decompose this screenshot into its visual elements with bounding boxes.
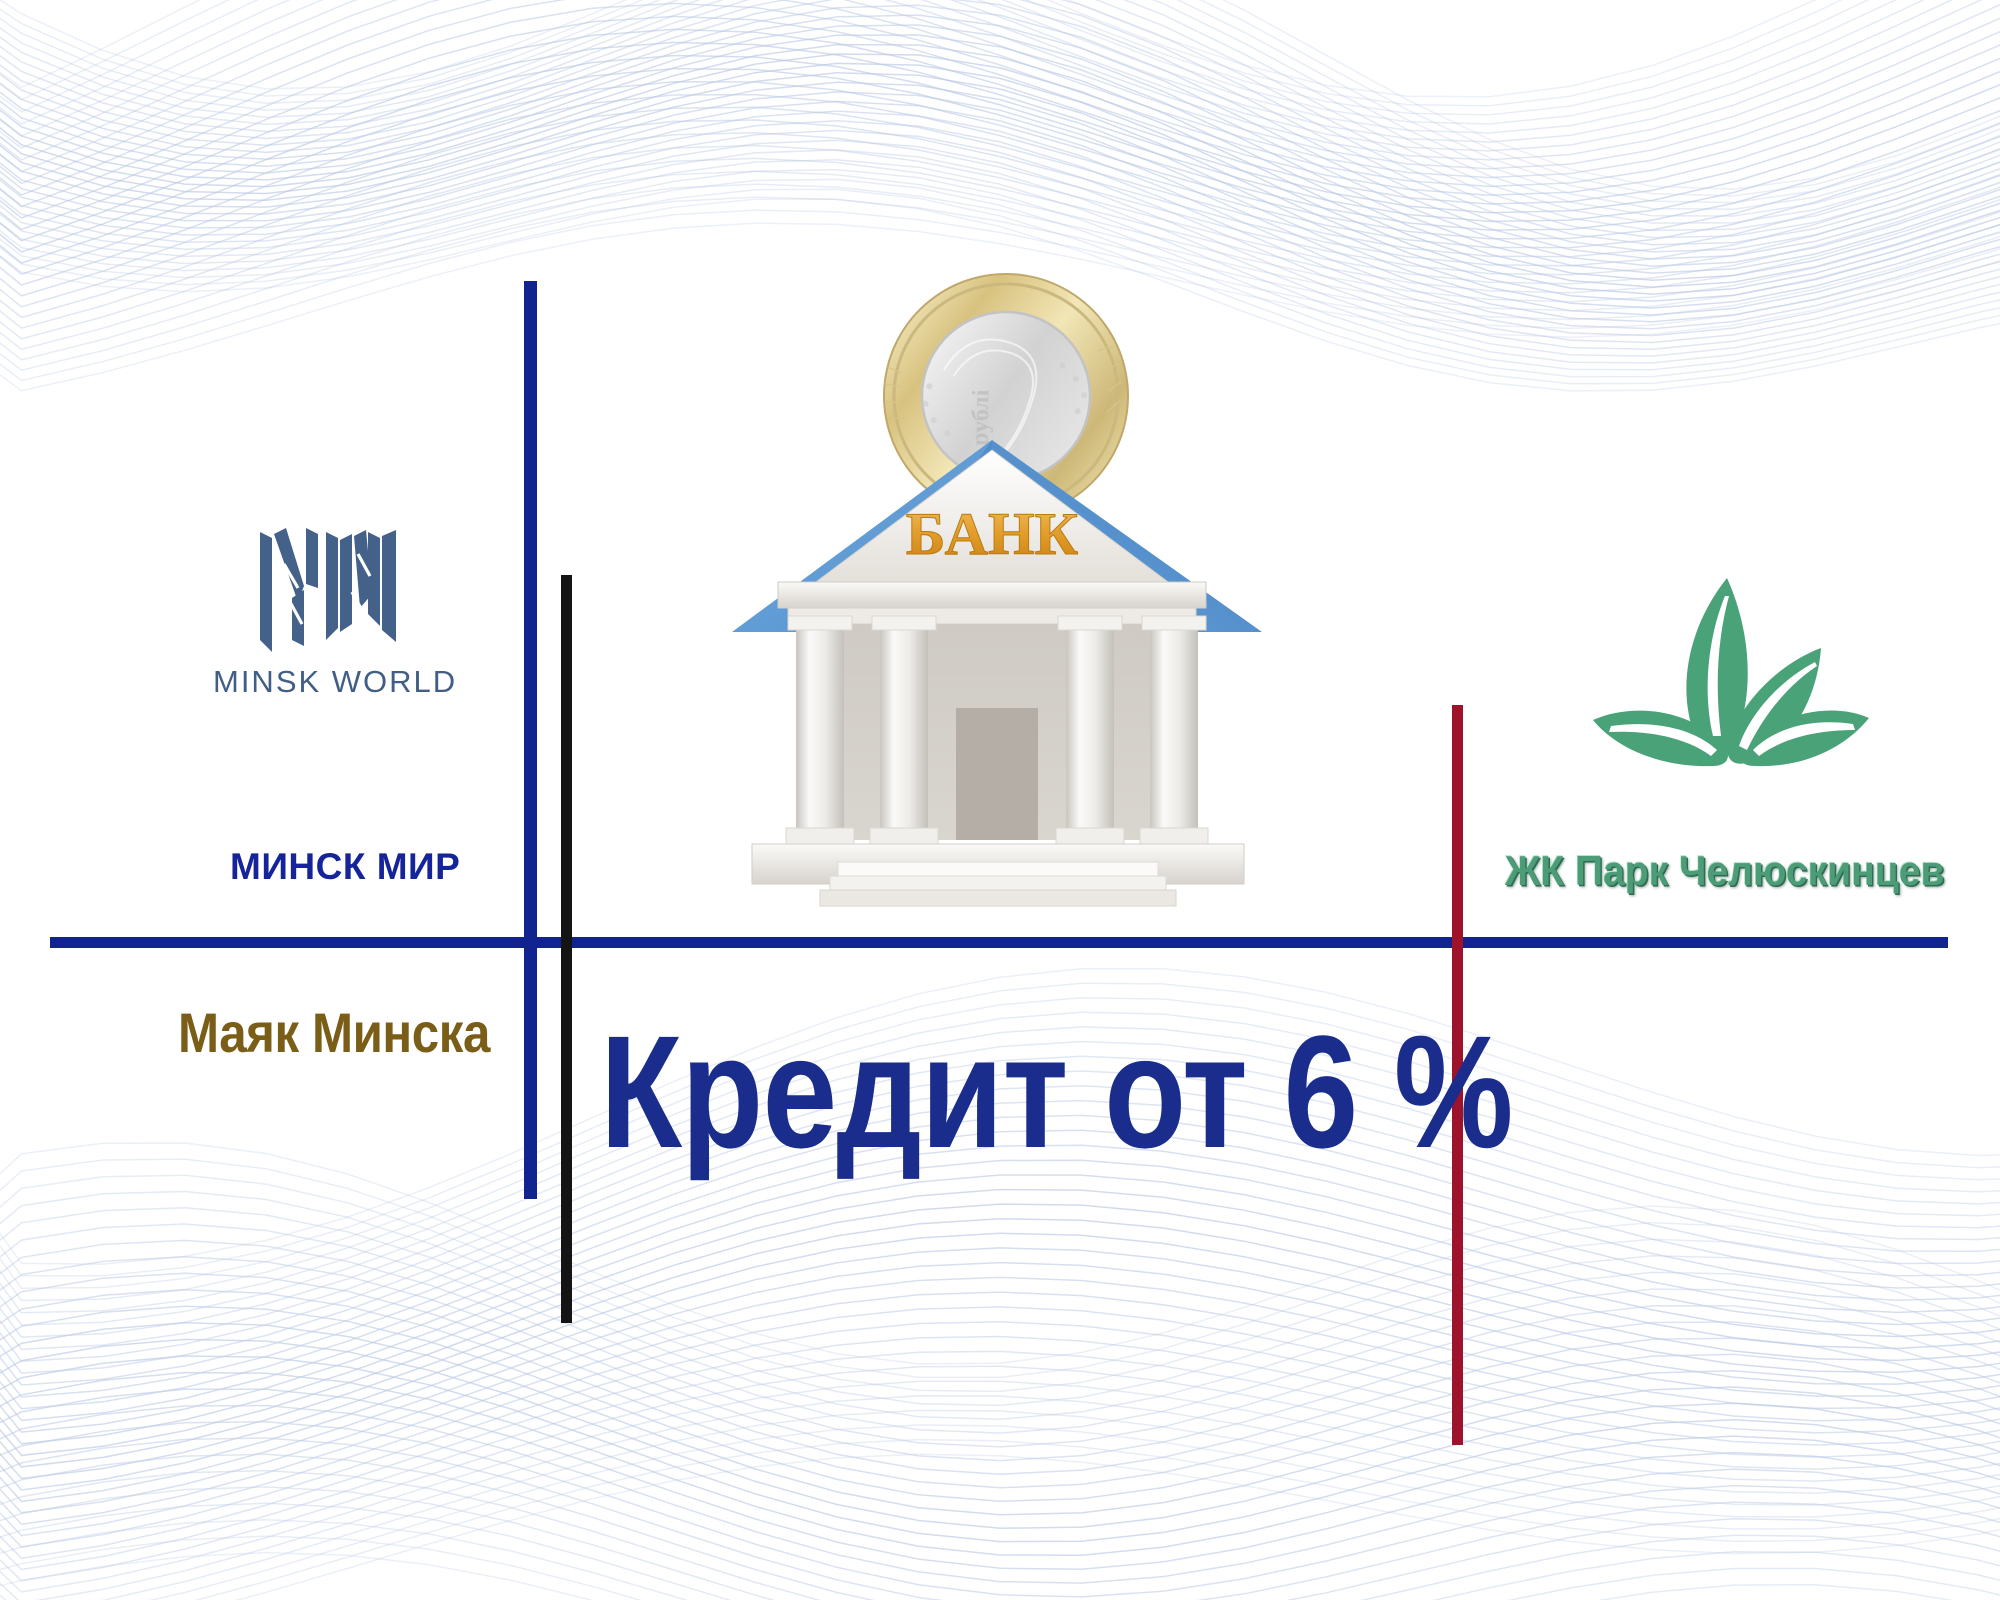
park-chelyuskintsev-logo [1512, 570, 1942, 830]
bank-label: БАНК [906, 501, 1078, 567]
bank-door [956, 708, 1038, 840]
svg-text:рублі: рублі [968, 389, 995, 446]
mayak-minska-caption: Маяк Минска [178, 1000, 490, 1065]
blue-horizontal-rule [50, 937, 1948, 948]
blue-vertical-rule [524, 281, 537, 1199]
black-vertical-rule [561, 575, 572, 1323]
minsk-mir-caption: МИНСК МИР [230, 846, 460, 888]
mw-monogram-icon [240, 528, 416, 656]
bank-step-3 [820, 890, 1176, 906]
headline-credit-rate: Кредит от 6 % [600, 1012, 1513, 1172]
poster-canvas: MINSK WORLD МИНСК МИР Маяк Минска [0, 0, 2000, 1600]
minsk-world-logo: MINSK WORLD [213, 528, 443, 708]
leaf-icon [1577, 570, 1877, 805]
bank-entablature [778, 582, 1206, 608]
bank-building-with-coin-illustration: рублі БАНК [720, 268, 1300, 908]
minsk-world-wordmark: MINSK WORLD [213, 664, 443, 700]
park-chelyuskintsev-caption: ЖК Парк Челюскинцев [1505, 847, 1945, 895]
